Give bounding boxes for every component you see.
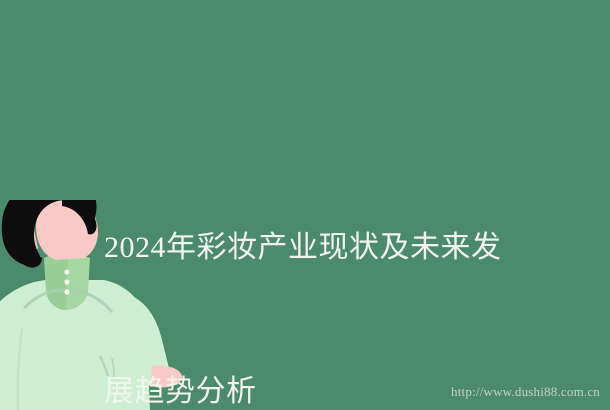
collar-button-3: [64, 289, 69, 294]
title-line-2: 展趋势分析: [104, 368, 504, 410]
title-line-1: 2024年彩妆产业现状及未来发: [104, 224, 504, 272]
collar-button-2: [64, 279, 69, 284]
watermark-url: http://www.dushi88.com.cn: [451, 384, 600, 400]
poster-canvas: 2024年彩妆产业现状及未来发 展趋势分析 http://www.dushi88…: [0, 0, 610, 410]
page-title: 2024年彩妆产业现状及未来发 展趋势分析: [104, 128, 504, 410]
collar-button-1: [64, 269, 69, 274]
